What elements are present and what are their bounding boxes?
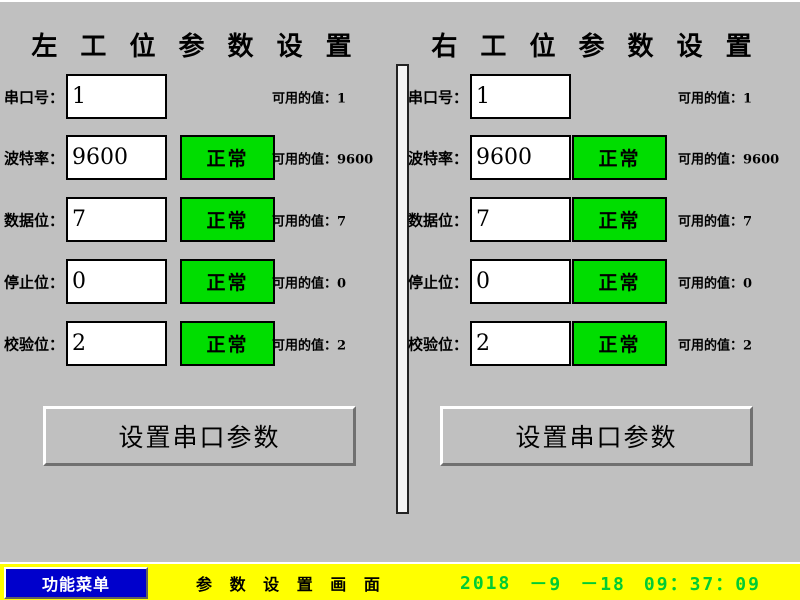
right-hint-baud-rate: 可用的值：9600	[678, 148, 779, 167]
right-status-baud-rate: 正常	[572, 135, 667, 180]
right-hint-serial-port: 可用的值：1	[678, 87, 752, 106]
right-hint-data-bits: 可用的值：7	[678, 210, 752, 229]
right-hint-stop-bits: 可用的值：0	[678, 272, 752, 291]
right-input-data-bits[interactable]	[470, 197, 571, 242]
left-input-baud-rate[interactable]	[66, 135, 167, 180]
right-status-stop-bits: 正常	[572, 259, 667, 304]
left-panel-title: 左 工 位 参 数 设 置	[0, 26, 390, 63]
left-input-stop-bits[interactable]	[66, 259, 167, 304]
datetime-year: 2018	[460, 573, 511, 594]
left-input-serial-port[interactable]	[66, 74, 167, 119]
right-label-baud-rate: 波特率：	[408, 147, 468, 168]
right-apply-serial-params-button[interactable]: 设置串口参数	[440, 406, 753, 466]
right-input-baud-rate[interactable]	[470, 135, 571, 180]
right-label-stop-bits: 停止位：	[408, 271, 468, 292]
left-hint-serial-port: 可用的值：1	[272, 87, 346, 106]
left-status-baud-rate: 正常	[180, 135, 275, 180]
left-label-serial-port: 串口号：	[4, 86, 64, 107]
right-status-data-bits: 正常	[572, 197, 667, 242]
right-status-parity-bits: 正常	[572, 321, 667, 366]
datetime-month: －9	[529, 570, 562, 596]
hmi-screen: 左 工 位 参 数 设 置 右 工 位 参 数 设 置 串口号： 可用的值：1 …	[0, 0, 800, 600]
left-hint-parity-bits: 可用的值：2	[272, 334, 346, 353]
right-label-serial-port: 串口号：	[408, 86, 468, 107]
left-hint-data-bits: 可用的值：7	[272, 210, 346, 229]
right-input-stop-bits[interactable]	[470, 259, 571, 304]
right-input-parity-bits[interactable]	[470, 321, 571, 366]
right-label-parity-bits: 校验位：	[408, 333, 468, 354]
datetime-time: 09：37：09	[644, 570, 761, 596]
left-status-stop-bits: 正常	[180, 259, 275, 304]
status-bar: 功能菜单 参 数 设 置 画 面 2018 －9 －18 09：37：09	[0, 562, 800, 600]
left-hint-stop-bits: 可用的值：0	[272, 272, 346, 291]
right-input-serial-port[interactable]	[470, 74, 571, 119]
left-label-stop-bits: 停止位：	[4, 271, 64, 292]
left-label-parity-bits: 校验位：	[4, 333, 64, 354]
right-hint-parity-bits: 可用的值：2	[678, 334, 752, 353]
left-label-data-bits: 数据位：	[4, 209, 64, 230]
datetime-day: －18	[580, 570, 626, 596]
left-apply-serial-params-button[interactable]: 设置串口参数	[43, 406, 356, 466]
left-input-parity-bits[interactable]	[66, 321, 167, 366]
left-status-parity-bits: 正常	[180, 321, 275, 366]
left-hint-baud-rate: 可用的值：9600	[272, 148, 373, 167]
left-label-baud-rate: 波特率：	[4, 147, 64, 168]
function-menu-button[interactable]: 功能菜单	[4, 567, 148, 599]
right-panel-title: 右 工 位 参 数 设 置	[400, 26, 790, 63]
datetime-display: 2018 －9 －18 09：37：09	[460, 564, 761, 600]
right-label-data-bits: 数据位：	[408, 209, 468, 230]
left-status-data-bits: 正常	[180, 197, 275, 242]
left-input-data-bits[interactable]	[66, 197, 167, 242]
current-screen-name: 参 数 设 置 画 面	[196, 564, 386, 600]
